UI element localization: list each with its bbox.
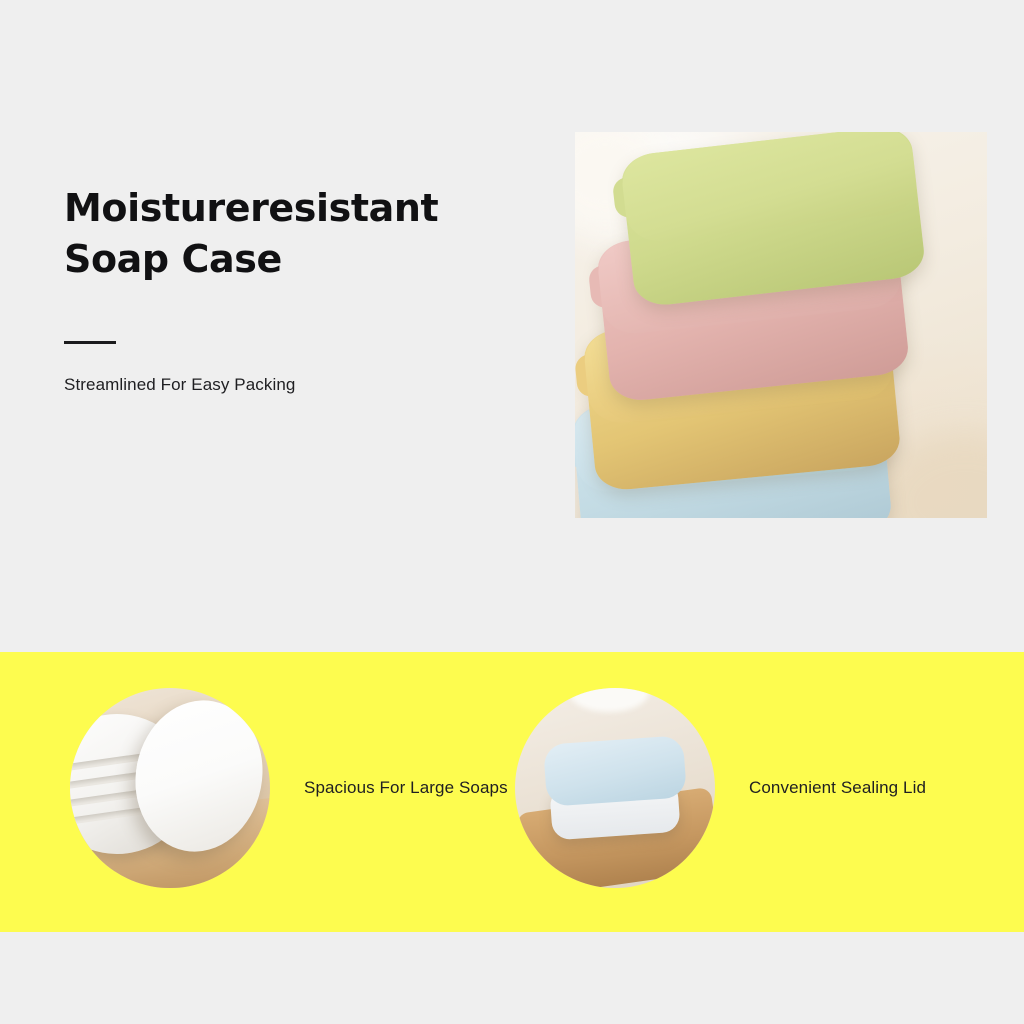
- hero-section: Moistureresistant Soap Case Streamlined …: [0, 0, 1024, 652]
- title-divider: [64, 341, 116, 344]
- feature-label: Spacious For Large Soaps: [304, 774, 508, 801]
- feature-item-sealing-lid: Convenient Sealing Lid: [515, 688, 926, 888]
- case-lid: [619, 132, 919, 245]
- feature-band: Spacious For Large Soaps Convenient Seal…: [0, 652, 1024, 932]
- feature-label: Convenient Sealing Lid: [749, 774, 926, 801]
- white-round-soap-dish-photo: [70, 688, 270, 888]
- hero-product-photo: [575, 132, 987, 518]
- hero-copy-block: Moistureresistant Soap Case Streamlined …: [64, 183, 524, 397]
- footer-strip: [0, 932, 1024, 1024]
- hero-subtitle: Streamlined For Easy Packing: [64, 373, 524, 398]
- sealing-lid: [543, 735, 687, 807]
- feature-item-spacious: Spacious For Large Soaps: [70, 688, 508, 888]
- towel-blur: [569, 688, 649, 712]
- blue-soap-case-on-board-photo: [515, 688, 715, 888]
- page-title: Moistureresistant Soap Case: [64, 183, 524, 285]
